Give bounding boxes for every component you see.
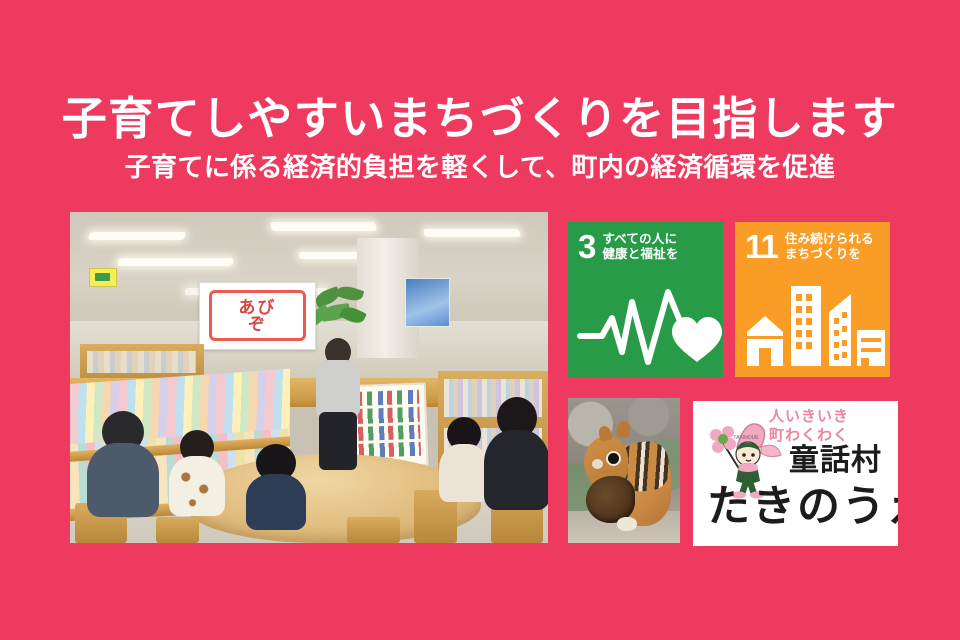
sdg-badge-11-label: 住み続けられる まちづくりを <box>785 230 874 262</box>
sdg-badge-11-header: 11 住み続けられる まちづくりを <box>745 230 884 263</box>
pinecone <box>586 476 635 522</box>
seated-child <box>242 444 309 543</box>
sdg-badge-11: 11 住み続けられる まちづくりを <box>735 222 890 377</box>
ceiling-lamp <box>270 222 377 231</box>
logo-catchphrase: 人いきいき 町わくわく <box>769 407 849 445</box>
logo-town-name: たきのうえ <box>707 483 901 531</box>
heading-block: 子育てしやすいまちづくりを目指します 子育てに係る経済的負担を軽くして、町内の経… <box>0 92 960 183</box>
exit-sign-icon <box>89 268 117 287</box>
page-title: 子育てしやすいまちづくりを目指します <box>0 92 960 146</box>
sdg-badge-3: 3 すべての人に 健康と福祉を <box>568 222 723 377</box>
logo-dowamura-text: 童話村 <box>789 445 882 477</box>
sdg-badge-11-number: 11 <box>745 230 778 263</box>
library-sign: あびぞ <box>199 282 316 350</box>
potted-plant <box>309 285 371 338</box>
seated-adult-left <box>84 411 160 543</box>
library-children-reading-photo: あびぞ <box>70 212 548 543</box>
heartbeat-pulse-heart-icon <box>568 274 723 374</box>
ceiling-lamp <box>423 229 521 237</box>
chipmunk-cheek <box>592 459 604 469</box>
library-sign-text: あびぞ <box>238 299 276 333</box>
ceiling-lamp <box>117 258 233 266</box>
logo-catchphrase-line1: 人いきいき <box>769 407 849 426</box>
sdg-badge-11-label-line1: 住み続けられる <box>785 232 874 247</box>
sdg-badge-11-label-line2: まちづくりを <box>785 247 874 262</box>
chair <box>347 517 400 543</box>
seated-child <box>166 430 228 543</box>
sdg-badge-3-label-line1: すべての人に <box>602 232 678 247</box>
wall-poster <box>405 278 450 326</box>
chipmunk-eating-pinecone-photo <box>568 398 680 543</box>
ceiling-lamp <box>88 232 186 240</box>
page-subtitle: 子育てに係る経済的負担を軽くして、町内の経済循環を促進 <box>0 151 960 183</box>
sdg-badge-3-number: 3 <box>578 230 595 263</box>
sdg-badge-3-header: 3 すべての人に 健康と福祉を <box>578 230 717 263</box>
takinoue-town-logo: TAKINOUE 人いきいき 町わくわく 童話村 たきのうえ <box>690 398 901 549</box>
slide-root: 子育てしやすいまちづくりを目指します 子育てに係る経済的負担を軽くして、町内の経… <box>0 0 960 640</box>
sdg-badge-3-label: すべての人に 健康と福祉を <box>602 230 678 262</box>
svg-text:TAKINOUE: TAKINOUE <box>733 435 759 441</box>
city-buildings-icon <box>735 274 890 374</box>
sdg-badge-3-label-line2: 健康と福祉を <box>602 247 678 262</box>
chipmunk-ear <box>616 421 631 438</box>
standing-adult <box>309 338 366 470</box>
logo-catchphrase-line2: 町わくわく <box>769 426 849 445</box>
seated-adult-right <box>481 397 548 543</box>
